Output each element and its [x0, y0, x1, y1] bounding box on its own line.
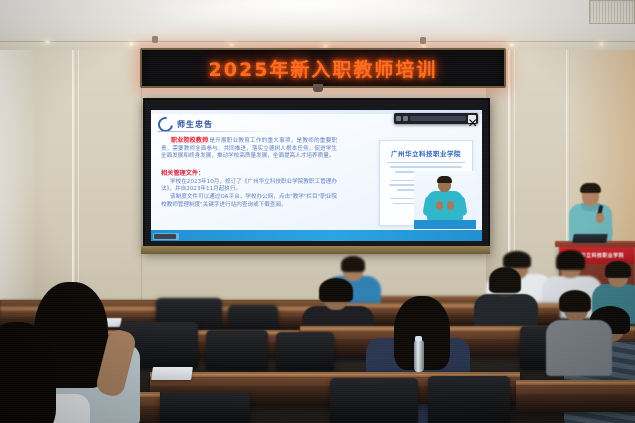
attendee-hair: [556, 250, 585, 270]
overlay-person-hair: [437, 176, 452, 183]
slide-header: 师生忠告: [158, 117, 213, 132]
video-overlay: [414, 171, 476, 229]
speaker-hair: [580, 183, 601, 193]
attendee-hair: [559, 290, 591, 312]
attendee-torso: [546, 320, 612, 376]
chair-back: [276, 332, 334, 370]
led-banner: 2025年新入职教师培训: [140, 48, 506, 88]
close-icon[interactable]: ×: [468, 115, 476, 123]
attendee-hair: [503, 251, 531, 268]
screen-bottom-bezel: [141, 246, 490, 254]
slide-paragraph: 职业院校教师是开展职业教育工作的重大事项，是教师的重要职责，需要教师全面参与、共…: [161, 137, 337, 161]
downlight: [598, 42, 605, 46]
screen-surface: 师生忠告 职业院校教师是开展职业教育工作的重大事项，是教师的重要职责，需要教师全…: [151, 110, 482, 241]
conference-status-bar: [410, 116, 466, 121]
overlay-person-torso: [427, 191, 463, 221]
conference-toolbar[interactable]: ×: [394, 113, 478, 124]
chair-back: [160, 392, 250, 423]
water-bottle-cap: [415, 336, 422, 341]
slide-section-heading: 相关管理文件：: [161, 168, 337, 177]
overlay-person-hand-right: [447, 201, 454, 210]
air-vent: [589, 0, 635, 24]
microphone-icon[interactable]: [403, 116, 408, 121]
desk-edge: [516, 382, 635, 385]
slide-section2-p2: 该制度文件可以通过OA平台，学校办公网，点击"教学"栏目"职业院校教师管理制度"…: [161, 194, 337, 209]
overlay-desk: [414, 220, 476, 229]
ceiling-camera: [152, 36, 158, 43]
slide-title: 师生忠告: [177, 119, 213, 130]
attendee-hair: [319, 278, 353, 302]
document-rule: [387, 162, 465, 163]
slide-section2-p1: 学校在2023年10月，修订了《广州华立科技职业学院教职工管理办法》，并自202…: [161, 179, 337, 194]
downlight: [508, 43, 515, 47]
slide-title-rule: [158, 131, 278, 132]
desk-row-front-right: [516, 380, 635, 412]
slide-body: 职业院校教师是开展职业教育工作的重大事项，是教师的重要职责，需要教师全面参与、共…: [161, 137, 337, 209]
ceiling-camera: [420, 37, 426, 44]
attendee-hair: [489, 267, 521, 293]
presentation-slide: 师生忠告 职业院校教师是开展职业教育工作的重大事项，是教师的重要职责，需要教师全…: [151, 110, 482, 241]
downlight: [44, 40, 51, 44]
chair-back: [206, 330, 268, 370]
document-title: 广州华立科技职业学院: [380, 148, 472, 158]
chair-back: [330, 378, 418, 423]
attendee-hair: [341, 256, 365, 272]
slide-keyword: 职业院校教师: [170, 137, 209, 144]
name-placard: [151, 367, 193, 380]
laptop: [572, 234, 608, 243]
camera-icon[interactable]: [396, 116, 401, 121]
water-bottle: [414, 340, 424, 372]
overlay-person-hand-left: [436, 201, 443, 210]
led-banner-text: 2025年新入职教师培训: [209, 55, 438, 82]
screen-corner-tag: [154, 234, 176, 239]
slide-footer-bar: [151, 230, 482, 241]
attendee-hair: [605, 261, 631, 278]
downlight: [128, 42, 135, 46]
desk-front-panel: [516, 394, 635, 412]
downlight: [228, 43, 235, 47]
chair-back: [428, 376, 510, 423]
projection-screen: 师生忠告 职业院校教师是开展职业教育工作的重大事项，是教师的重要职责，需要教师全…: [143, 98, 490, 252]
led-banner-bracket: [313, 84, 323, 92]
training-session-photo: 2025年新入职教师培训 师生忠告 职业院校教师是开展职业教育工作的重大事项，是…: [0, 0, 635, 423]
speaker-hand: [596, 213, 604, 223]
document-text-line: [390, 166, 462, 168]
